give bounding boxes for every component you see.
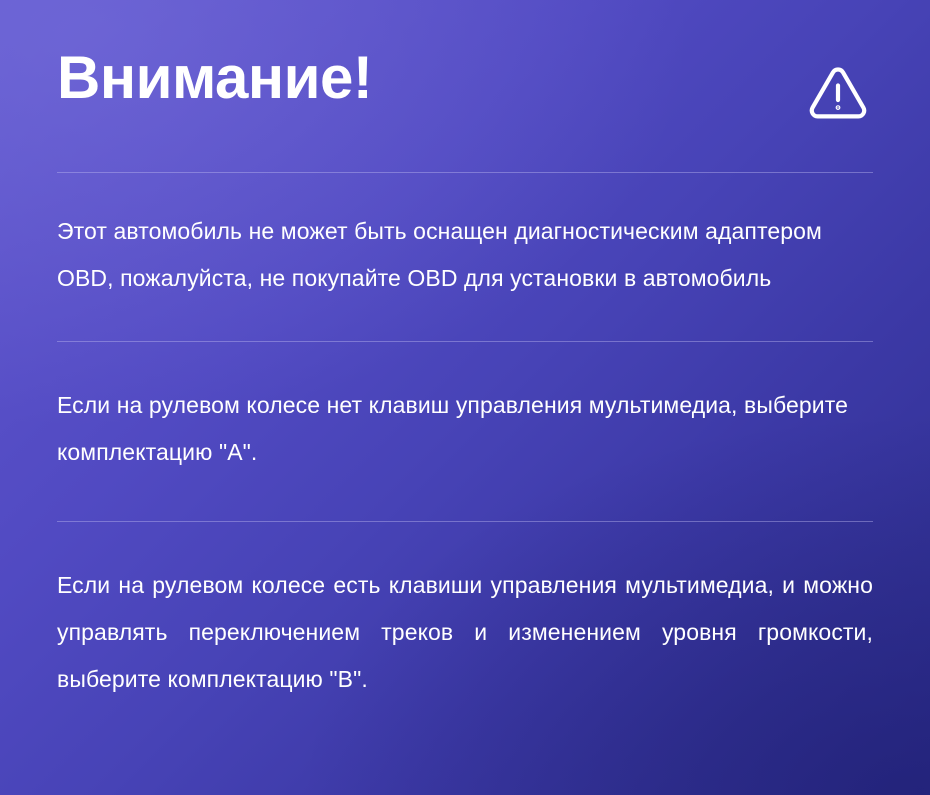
notice-text: Этот автомобиль не может быть оснащен ди… bbox=[57, 208, 873, 302]
notice-text: Если на рулевом колесе есть клавиши упра… bbox=[57, 562, 873, 703]
notice-block-variant-b: Если на рулевом колесе есть клавиши упра… bbox=[57, 522, 873, 703]
warning-triangle-icon bbox=[806, 62, 870, 122]
warning-notice-card: Внимание! Этот автомобиль не может быть … bbox=[0, 0, 930, 795]
notice-text: Если на рулевом колесе нет клавиш управл… bbox=[57, 382, 873, 476]
page-title: Внимание! bbox=[57, 48, 372, 108]
card-content: Внимание! Этот автомобиль не может быть … bbox=[0, 0, 930, 703]
card-header: Внимание! bbox=[57, 0, 873, 172]
notice-block-obd: Этот автомобиль не может быть оснащен ди… bbox=[57, 173, 873, 341]
notice-block-variant-a: Если на рулевом колесе нет клавиш управл… bbox=[57, 342, 873, 521]
